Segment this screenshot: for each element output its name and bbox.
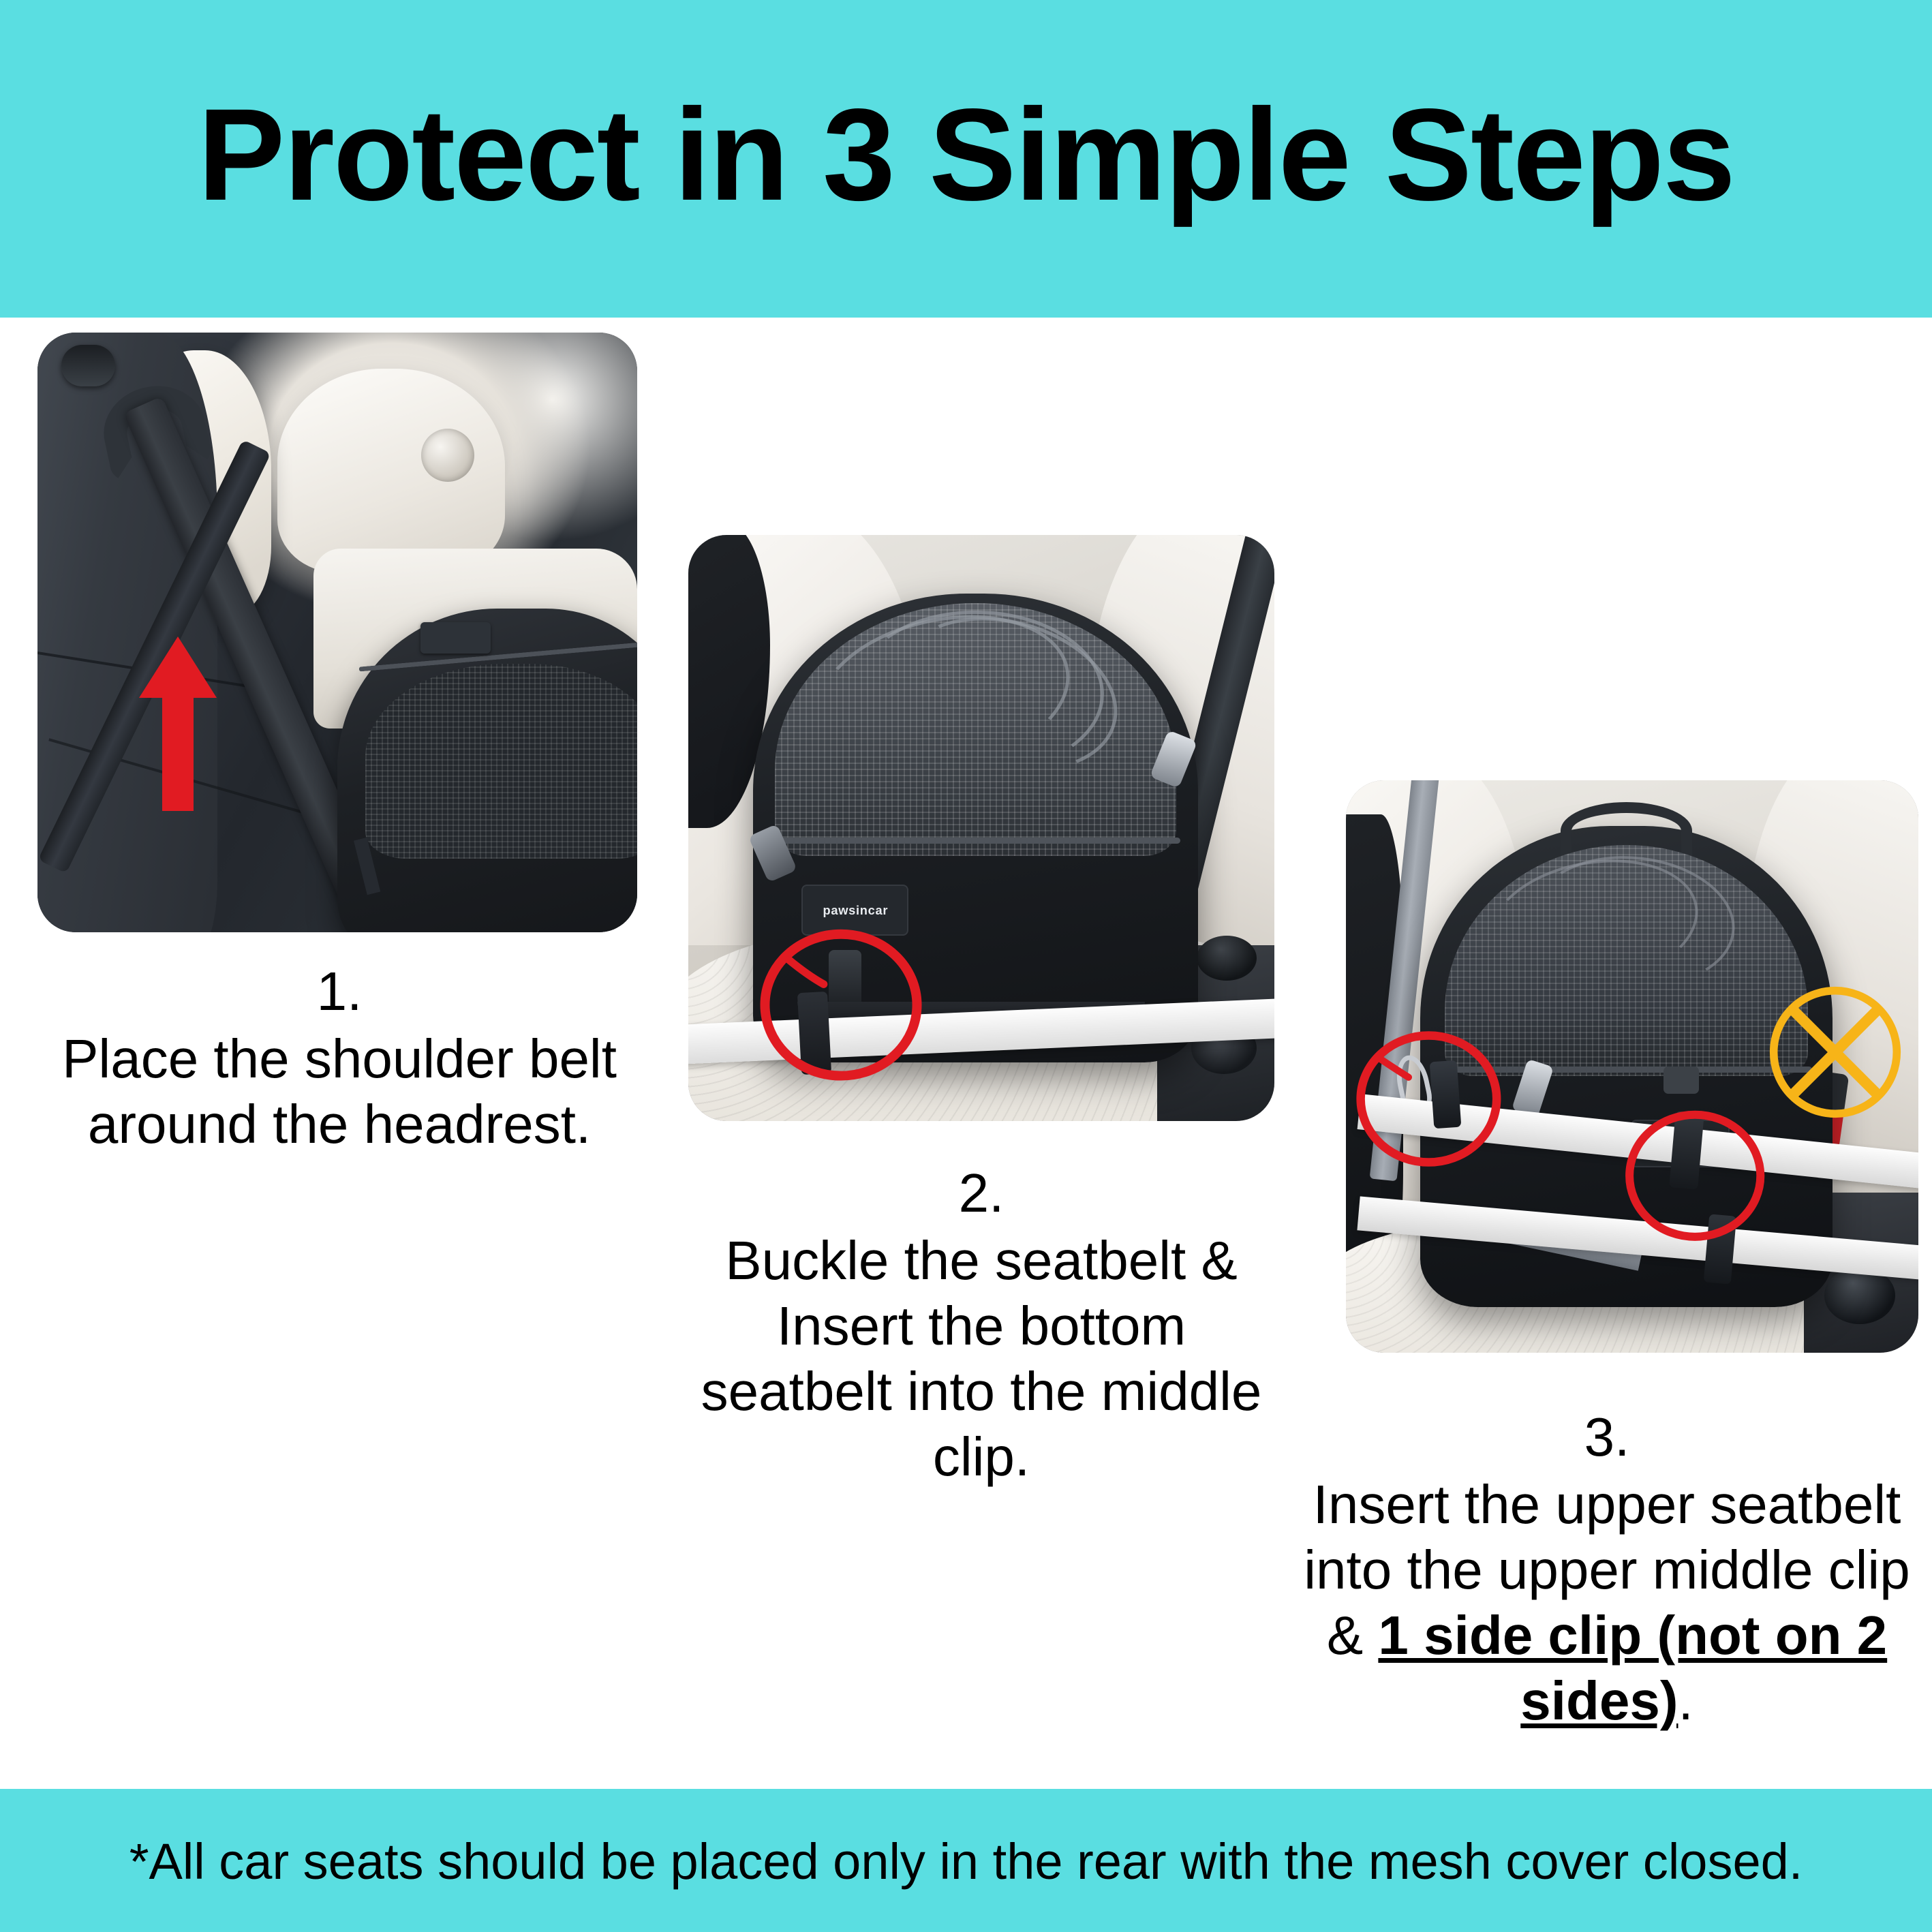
step-1-text: Place the shoulder belt around the headr…: [27, 1026, 651, 1157]
step-2-number: 2.: [681, 1159, 1281, 1228]
door-handle: [61, 345, 115, 387]
front-seat: [277, 369, 505, 572]
step-1-scene: [37, 333, 637, 932]
side-clip: [1430, 1060, 1462, 1129]
carrier-top-clip: [1663, 1067, 1699, 1094]
step-1-number: 1.: [27, 957, 651, 1026]
door-speaker-icon: [421, 429, 474, 482]
carrier-mesh-dome: [1445, 845, 1807, 1076]
step-3-number: 3.: [1300, 1402, 1914, 1472]
carrier-zipper: [771, 838, 1180, 844]
carrier-zipper: [1441, 1067, 1811, 1073]
svg-text:pawsincar: pawsincar: [823, 903, 888, 917]
step-1-photo: [37, 333, 637, 932]
cupholder-secondary: [1197, 936, 1257, 981]
step-2-caption: 2. Buckle the seatbelt & Insert the bott…: [681, 1159, 1281, 1490]
step-1-caption: 1. Place the shoulder belt around the he…: [27, 957, 651, 1157]
step-3-text: Insert the upper seatbelt into the upper…: [1300, 1472, 1914, 1734]
footer-note: *All car seats should be placed only in …: [129, 1837, 1803, 1887]
bottom-middle-clip: [797, 992, 831, 1075]
step-3-text-emphasis: 1 side clip (not on 2 sides): [1378, 1605, 1887, 1731]
header-band: Protect in 3 Simple Steps: [0, 0, 1932, 318]
page-title: Protect in 3 Simple Steps: [198, 89, 1734, 220]
pawsincar-logo-icon: pawsincar: [808, 893, 904, 927]
carrier-mesh-dome: [775, 603, 1176, 857]
carrier-side-clip: [829, 950, 861, 1010]
step-2-scene: pawsincar: [688, 535, 1274, 1121]
infographic-page: Protect in 3 Simple Steps: [0, 0, 1932, 1932]
pet-carrier: [337, 609, 637, 932]
footer-band: *All car seats should be placed only in …: [0, 1789, 1932, 1932]
step-2-text: Buckle the seatbelt & Insert the bottom …: [681, 1228, 1281, 1490]
step-3-scene: pawsincar: [1346, 780, 1918, 1353]
step-3-photo: pawsincar: [1346, 780, 1918, 1353]
carrier-brand-tag: [420, 622, 490, 654]
carrier-brand-tag: pawsincar: [801, 885, 908, 936]
step-3-caption: 3. Insert the upper seatbelt into the up…: [1300, 1402, 1914, 1734]
step-3-text-tail: .: [1678, 1670, 1693, 1731]
step-2-photo: pawsincar: [688, 535, 1274, 1121]
